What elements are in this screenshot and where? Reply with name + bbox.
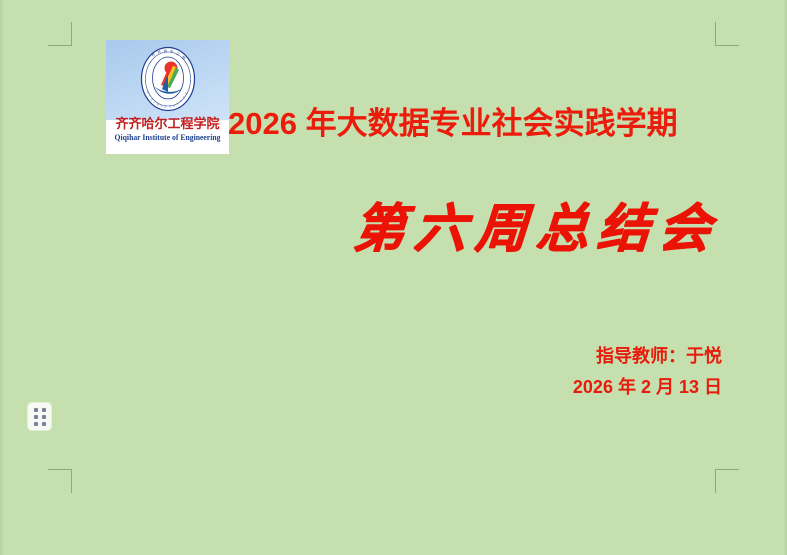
page-right-edge	[783, 0, 787, 555]
page-title: 2026 年大数据专业社会实践学期	[228, 105, 678, 143]
drag-handle-icon[interactable]	[28, 403, 51, 430]
institution-emblem-icon: 齐 齐 哈 尔 工 院 Q I Q I H A	[140, 46, 196, 112]
drag-dot	[42, 422, 46, 426]
logo-wordmark-cn: 齐齐哈尔工程学院	[106, 116, 229, 131]
margin-corner-mark-bottom-left	[48, 469, 72, 493]
title-row: 齐 齐 哈 尔 工 院 Q I Q I H A	[60, 30, 727, 155]
date-line: 2026 年 2 月 13 日	[60, 372, 722, 403]
cover-content: 齐 齐 哈 尔 工 院 Q I Q I H A	[60, 30, 727, 403]
drag-dot	[34, 408, 38, 412]
page-subtitle: 第六周总结会	[58, 197, 730, 263]
page-left-edge	[0, 0, 4, 555]
logo-wordmark-en: Qiqihar Institute of Engineering	[108, 133, 226, 142]
drag-dot	[34, 422, 38, 426]
margin-corner-mark-bottom-right	[715, 469, 739, 493]
institution-logo: 齐 齐 哈 尔 工 院 Q I Q I H A	[106, 40, 229, 154]
instructor-line: 指导教师：于悦	[60, 341, 722, 372]
drag-handle-dots	[34, 408, 46, 426]
drag-dot	[42, 415, 46, 419]
document-page: 齐 齐 哈 尔 工 院 Q I Q I H A	[0, 0, 787, 555]
signature-block: 指导教师：于悦 2026 年 2 月 13 日	[60, 341, 727, 403]
drag-dot	[34, 415, 38, 419]
drag-dot	[42, 408, 46, 412]
